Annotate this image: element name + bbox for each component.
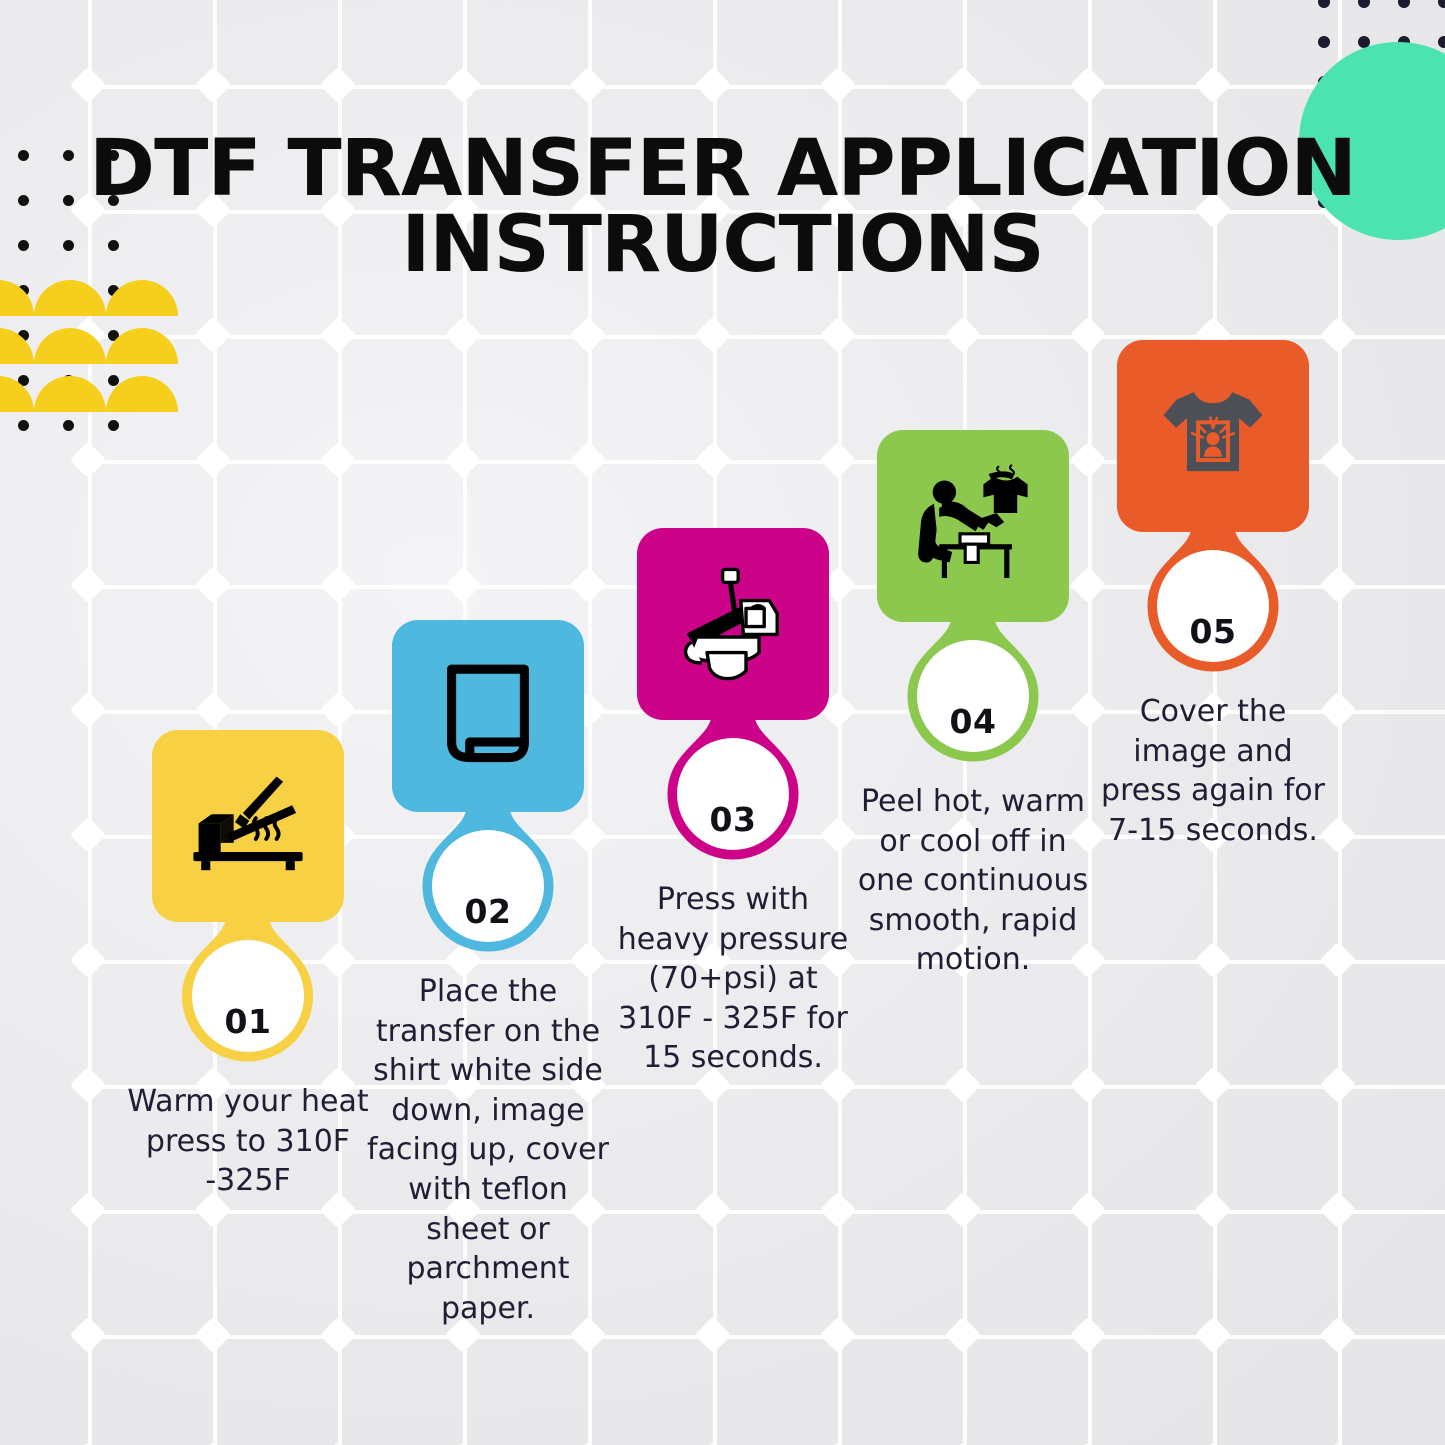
page-title-line-2: INSTRUCTIONS	[0, 208, 1445, 284]
step-1-drop-shape	[153, 916, 343, 1068]
step-3: 03 Press with heavy pressure (70+psi) at…	[613, 528, 853, 1078]
step-5-number: 05	[1190, 612, 1237, 651]
printed-tshirt-icon	[1148, 371, 1278, 501]
page-title-line-1: DTF TRANSFER APPLICATION	[0, 132, 1445, 208]
step-4-description: Peel hot, warm or cool off in one contin…	[850, 782, 1096, 980]
step-1-number: 01	[225, 1002, 272, 1041]
page-title: DTF TRANSFER APPLICATION INSTRUCTIONS	[0, 132, 1445, 283]
heat-press-open-icon	[183, 761, 313, 891]
step-2-connector: 02	[393, 806, 583, 958]
step-3-connector: 03	[638, 714, 828, 866]
step-5-description: Cover the image and press again for 7-15…	[1090, 692, 1336, 850]
step-4: 04 Peel hot, warm or cool off in one con…	[853, 430, 1093, 980]
step-1: 01 Warm your heat press to 310F -325F	[128, 730, 368, 1201]
step-4-drop-shape	[878, 616, 1068, 768]
step-1-icon-card	[152, 730, 344, 922]
person-peeling-transfer-icon	[908, 461, 1038, 591]
step-2-description: Place the transfer on the shirt white si…	[365, 972, 611, 1328]
step-5-connector: 05	[1118, 526, 1308, 678]
infographic-poster: DTF TRANSFER APPLICATION INSTRUCTIONS	[0, 0, 1445, 1445]
step-2-number: 02	[465, 892, 512, 931]
step-4-number: 04	[950, 702, 997, 741]
step-3-icon-card	[637, 528, 829, 720]
step-1-connector: 01	[153, 916, 343, 1068]
step-5-drop-shape	[1118, 526, 1308, 678]
step-3-number: 03	[710, 800, 757, 839]
step-2: 02 Place the transfer on the shirt white…	[368, 620, 608, 1328]
step-2-icon-card	[392, 620, 584, 812]
step-2-drop-shape	[393, 806, 583, 958]
step-5-icon-card	[1117, 340, 1309, 532]
step-4-icon-card	[877, 430, 1069, 622]
step-3-drop-shape	[638, 714, 828, 866]
step-4-connector: 04	[878, 616, 1068, 768]
step-5: 05 Cover the image and press again for 7…	[1093, 340, 1333, 850]
heat-press-machine-icon	[668, 559, 798, 689]
transfer-sheet-icon	[423, 651, 553, 781]
step-1-description: Warm your heat press to 310F -325F	[125, 1082, 371, 1201]
step-3-description: Press with heavy pressure (70+psi) at 31…	[610, 880, 856, 1078]
